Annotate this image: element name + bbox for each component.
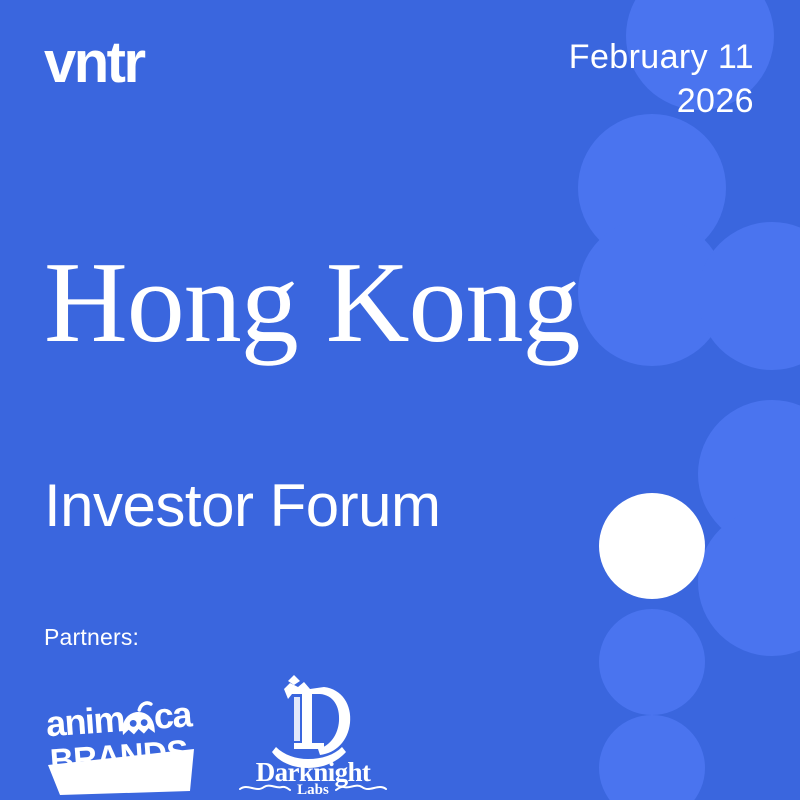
- event-city-title: Hong Kong: [44, 243, 580, 365]
- brand-logo[interactable]: vntr: [44, 34, 144, 92]
- flourish-left: [240, 786, 290, 790]
- partner-logo-darknight-labs[interactable]: Darknight Labs: [238, 673, 388, 795]
- darknight-labs-logo-icon: Darknight Labs: [238, 673, 388, 795]
- animoca-brands-logo-icon: anim ca BRANDS: [44, 691, 204, 795]
- event-poster: vntr February 11 2026 Hong Kong Investor…: [0, 0, 800, 800]
- event-date-line-2: 2026: [569, 80, 754, 124]
- event-type-subtitle: Investor Forum: [44, 473, 440, 539]
- flourish-right: [336, 786, 386, 790]
- svg-text:Labs: Labs: [297, 782, 329, 795]
- animoca-ghost-icon: [121, 703, 155, 736]
- partners-label: Partners:: [44, 624, 464, 651]
- darknight-monogram: [272, 675, 350, 768]
- svg-text:ca: ca: [152, 693, 194, 737]
- partner-logo-list: anim ca BRANDS: [44, 673, 464, 795]
- partner-logo-animoca-brands[interactable]: anim ca BRANDS: [44, 691, 204, 795]
- partners-section: Partners: anim: [44, 624, 464, 795]
- event-date-line-1: February 11: [569, 36, 754, 80]
- event-date: February 11 2026: [569, 36, 754, 123]
